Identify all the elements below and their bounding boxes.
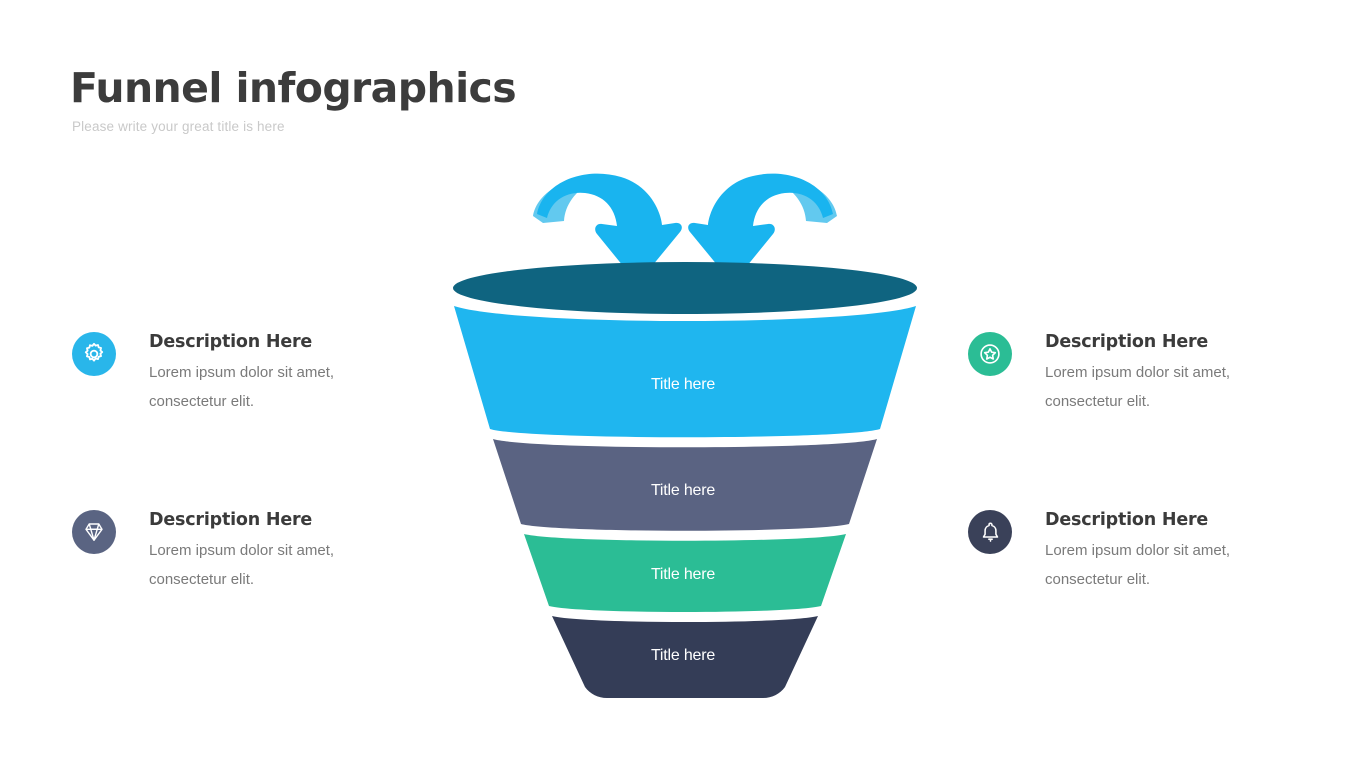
- description-block-top-left[interactable]: Description Here Lorem ipsum dolor sit a…: [72, 330, 372, 416]
- star-badge-icon[interactable]: [968, 332, 1012, 376]
- description-text-bottom-right: Description Here Lorem ipsum dolor sit a…: [1045, 508, 1268, 594]
- description-block-bottom-right[interactable]: Description Here Lorem ipsum dolor sit a…: [968, 508, 1268, 594]
- funnel-mouth-ellipse: [453, 262, 917, 314]
- description-text-bottom-left: Description Here Lorem ipsum dolor sit a…: [149, 508, 372, 594]
- funnel-segment-2[interactable]: Title here: [493, 439, 877, 531]
- description-block-bottom-left[interactable]: Description Here Lorem ipsum dolor sit a…: [72, 508, 372, 594]
- diamond-icon[interactable]: [72, 510, 116, 554]
- bell-icon[interactable]: [968, 510, 1012, 554]
- funnel-svg: Title here Title here Title here Title h…: [425, 155, 945, 725]
- description-title: Description Here: [1045, 332, 1268, 352]
- description-text-top-right: Description Here Lorem ipsum dolor sit a…: [1045, 330, 1268, 416]
- description-block-top-right[interactable]: Description Here Lorem ipsum dolor sit a…: [968, 330, 1268, 416]
- page-subtitle: Please write your great title is here: [72, 119, 516, 134]
- description-title: Description Here: [149, 332, 372, 352]
- funnel-segment-4[interactable]: Title here: [552, 616, 818, 698]
- description-title: Description Here: [149, 510, 372, 530]
- description-body: Lorem ipsum dolor sit amet, consectetur …: [149, 359, 372, 416]
- page-title: Funnel infographics: [70, 66, 516, 110]
- header: Funnel infographics Please write your gr…: [70, 66, 516, 134]
- slide-canvas: Funnel infographics Please write your gr…: [0, 0, 1365, 768]
- description-body: Lorem ipsum dolor sit amet, consectetur …: [1045, 537, 1268, 594]
- description-body: Lorem ipsum dolor sit amet, consectetur …: [149, 537, 372, 594]
- funnel-segment-3-label: Title here: [651, 566, 715, 583]
- description-title: Description Here: [1045, 510, 1268, 530]
- gear-icon[interactable]: [72, 332, 116, 376]
- description-text-top-left: Description Here Lorem ipsum dolor sit a…: [149, 330, 372, 416]
- description-body: Lorem ipsum dolor sit amet, consectetur …: [1045, 359, 1268, 416]
- funnel-segment-1-label: Title here: [651, 376, 715, 393]
- funnel-segment-3[interactable]: Title here: [524, 534, 846, 612]
- funnel-diagram: Title here Title here Title here Title h…: [425, 155, 945, 725]
- funnel-segment-2-label: Title here: [651, 482, 715, 499]
- funnel-segment-1[interactable]: Title here: [454, 306, 916, 437]
- funnel-segment-4-label: Title here: [651, 647, 715, 664]
